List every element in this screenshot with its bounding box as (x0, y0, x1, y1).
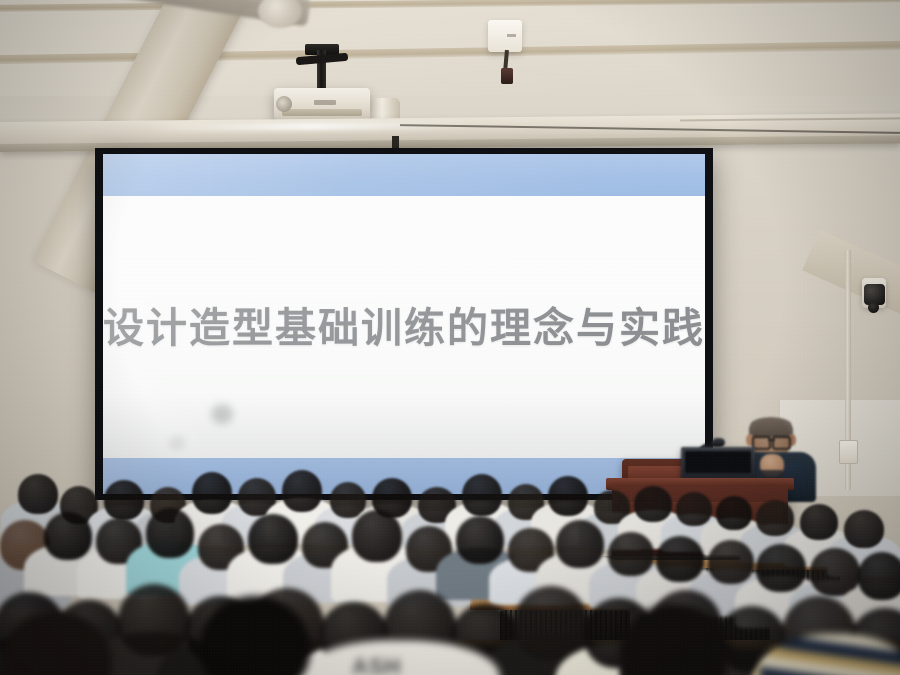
audience-head (676, 492, 712, 526)
audience-head (514, 586, 588, 660)
wall-access-point (488, 20, 522, 52)
audience-head (146, 508, 194, 558)
projection-screen: 设计造型基础训练的理念与实践 (95, 148, 713, 500)
glasses-bridge (768, 439, 775, 441)
housing-highlight (150, 121, 470, 131)
audience-head (548, 476, 588, 516)
audience-head (656, 536, 704, 582)
audience-head (104, 480, 144, 520)
audience-head (800, 504, 838, 540)
audience-head (456, 516, 504, 564)
slide-title: 设计造型基础训练的理念与实践 (103, 294, 705, 354)
speaker-hair (749, 417, 793, 437)
audience-head (756, 544, 806, 592)
microphone-icon (712, 438, 725, 447)
audience-head (756, 500, 794, 536)
audience-head (608, 532, 654, 576)
projector-lens-icon (276, 96, 292, 112)
screen-surface: 设计造型基础训练的理念与实践 (103, 154, 705, 494)
audience-head (118, 584, 190, 656)
lecture-hall-photo: 设计造型基础训练的理念与实践 贾 安 东 (0, 0, 900, 675)
audience-head (248, 514, 298, 564)
camera-lens-icon (868, 302, 879, 313)
screen-smudge (211, 404, 233, 424)
audience-head (556, 520, 604, 568)
audience-head (44, 512, 92, 560)
access-point-plug (501, 68, 513, 84)
audience-head (352, 510, 402, 562)
audience-head (708, 540, 754, 584)
audience-head (282, 470, 322, 512)
glasses-icon (751, 436, 792, 446)
laptop-icon (681, 447, 755, 481)
audience-head (634, 486, 672, 522)
slide-band-top (103, 154, 705, 196)
audience-head (858, 552, 900, 600)
tee-graphic-text: ASH (352, 654, 401, 675)
audience-head (18, 474, 58, 514)
audience-head (462, 474, 502, 516)
wall-socket (839, 440, 858, 464)
audience-head (844, 510, 884, 548)
screen-smudge-secondary (169, 436, 185, 450)
presentation-slide: 设计造型基础训练的理念与实践 (103, 154, 705, 494)
audience-head (716, 496, 752, 530)
housing-seam (680, 117, 900, 121)
audience-head (192, 472, 232, 514)
projector-brand-mark (314, 100, 336, 105)
laptop-screen (685, 451, 751, 473)
